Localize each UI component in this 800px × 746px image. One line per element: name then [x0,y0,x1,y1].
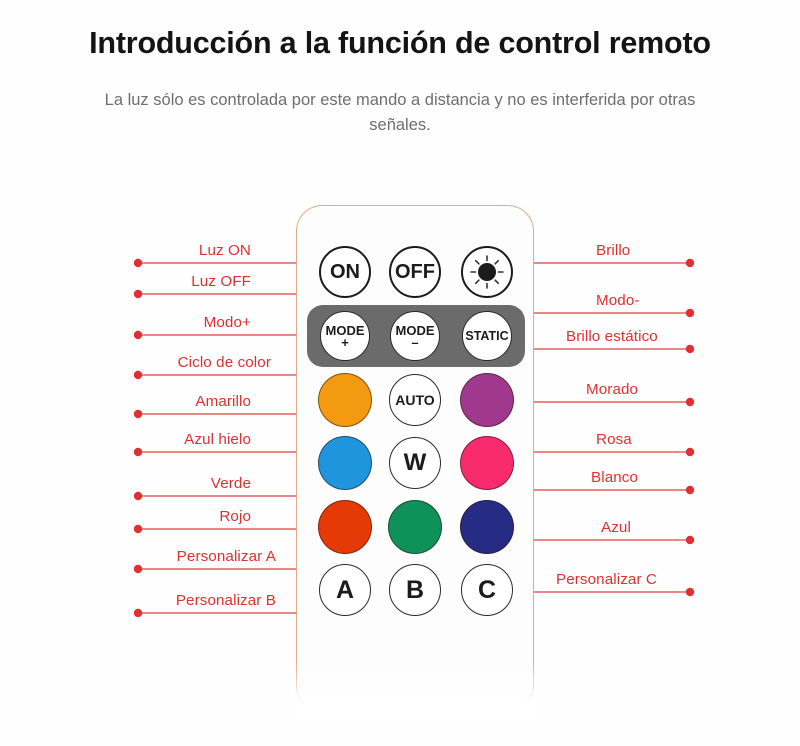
remote-button-auto[interactable]: AUTO [389,374,441,426]
leader-dot-personalizar-c [686,588,694,596]
leader-dot-modo-mas [134,331,142,339]
annotation-label-personalizar-a: Personalizar A [177,548,276,565]
annotation-label-rojo: Rojo [219,508,251,525]
annotation-label-luz-off: Luz OFF [191,273,251,290]
leader-dot-rojo [134,525,142,533]
remote-button-label: STATIC [465,330,508,343]
remote-button-label: C [478,578,496,603]
remote-button-purple[interactable] [460,373,514,427]
annotation-label-amarillo: Amarillo [195,393,251,410]
remote-button-pink[interactable] [460,436,514,490]
leader-dot-brillo [686,259,694,267]
annotation-label-brillo: Brillo [596,242,630,259]
leader-dot-azul-hielo [134,448,142,456]
remote-button-label: B [406,578,424,603]
remote-button-white[interactable]: W [389,437,441,489]
leader-dot-azul [686,536,694,544]
leader-dot-modo-menos [686,309,694,317]
annotation-label-personalizar-b: Personalizar B [176,592,276,609]
annotation-label-azul-hielo: Azul hielo [184,431,251,448]
remote-button-custom-b[interactable]: B [389,564,441,616]
remote-button-label: A [336,578,354,603]
leader-dot-brillo-estatico [686,345,694,353]
annotation-label-azul: Azul [601,519,631,536]
remote-button-mode-minus[interactable]: MODE– [390,311,440,361]
remote-button-label: AUTO [395,393,434,407]
remote-button-brightness[interactable] [461,246,513,298]
leader-dot-amarillo [134,410,142,418]
leader-dot-rosa [686,448,694,456]
leader-dot-morado [686,398,694,406]
annotation-label-blanco: Blanco [591,469,638,486]
remote-button-dark-blue[interactable] [460,500,514,554]
annotation-label-modo-mas: Modo+ [204,314,251,331]
remote-button-amber[interactable] [318,373,372,427]
leader-dot-luz-off [134,290,142,298]
leader-dot-personalizar-a [134,565,142,573]
remote-button-label: ON [330,262,360,282]
annotation-label-ciclo-de-color: Ciclo de color [178,354,271,371]
annotation-label-rosa: Rosa [596,431,632,448]
remote-button-static[interactable]: STATIC [462,311,512,361]
remote-button-red[interactable] [318,500,372,554]
leader-dot-blanco [686,486,694,494]
remote-button-ice-blue[interactable] [318,436,372,490]
annotation-label-morado: Morado [586,381,638,398]
remote-button-on[interactable]: ON [319,246,371,298]
annotation-label-brillo-estatico: Brillo estático [566,328,658,345]
remote-button-off[interactable]: OFF [389,246,441,298]
annotation-label-personalizar-c: Personalizar C [556,571,657,588]
leader-dot-luz-on [134,259,142,267]
annotation-label-verde: Verde [211,475,251,492]
brightness-icon [467,252,507,292]
remote-button-green[interactable] [388,500,442,554]
remote-button-custom-a[interactable]: A [319,564,371,616]
leader-dot-personalizar-b [134,609,142,617]
leader-dot-verde [134,492,142,500]
remote-button-mode-plus[interactable]: MODE+ [320,311,370,361]
remote-button-label: W [404,451,427,475]
annotation-label-luz-on: Luz ON [199,242,251,259]
remote-button-sublabel: + [341,336,349,349]
leader-dot-ciclo-de-color [134,371,142,379]
remote-button-custom-c[interactable]: C [461,564,513,616]
remote-button-label: OFF [395,262,435,282]
remote-control-infographic: Introducción a la función de control rem… [0,0,800,746]
annotation-label-modo-menos: Modo- [596,292,640,309]
remote-button-sublabel: – [411,336,418,349]
